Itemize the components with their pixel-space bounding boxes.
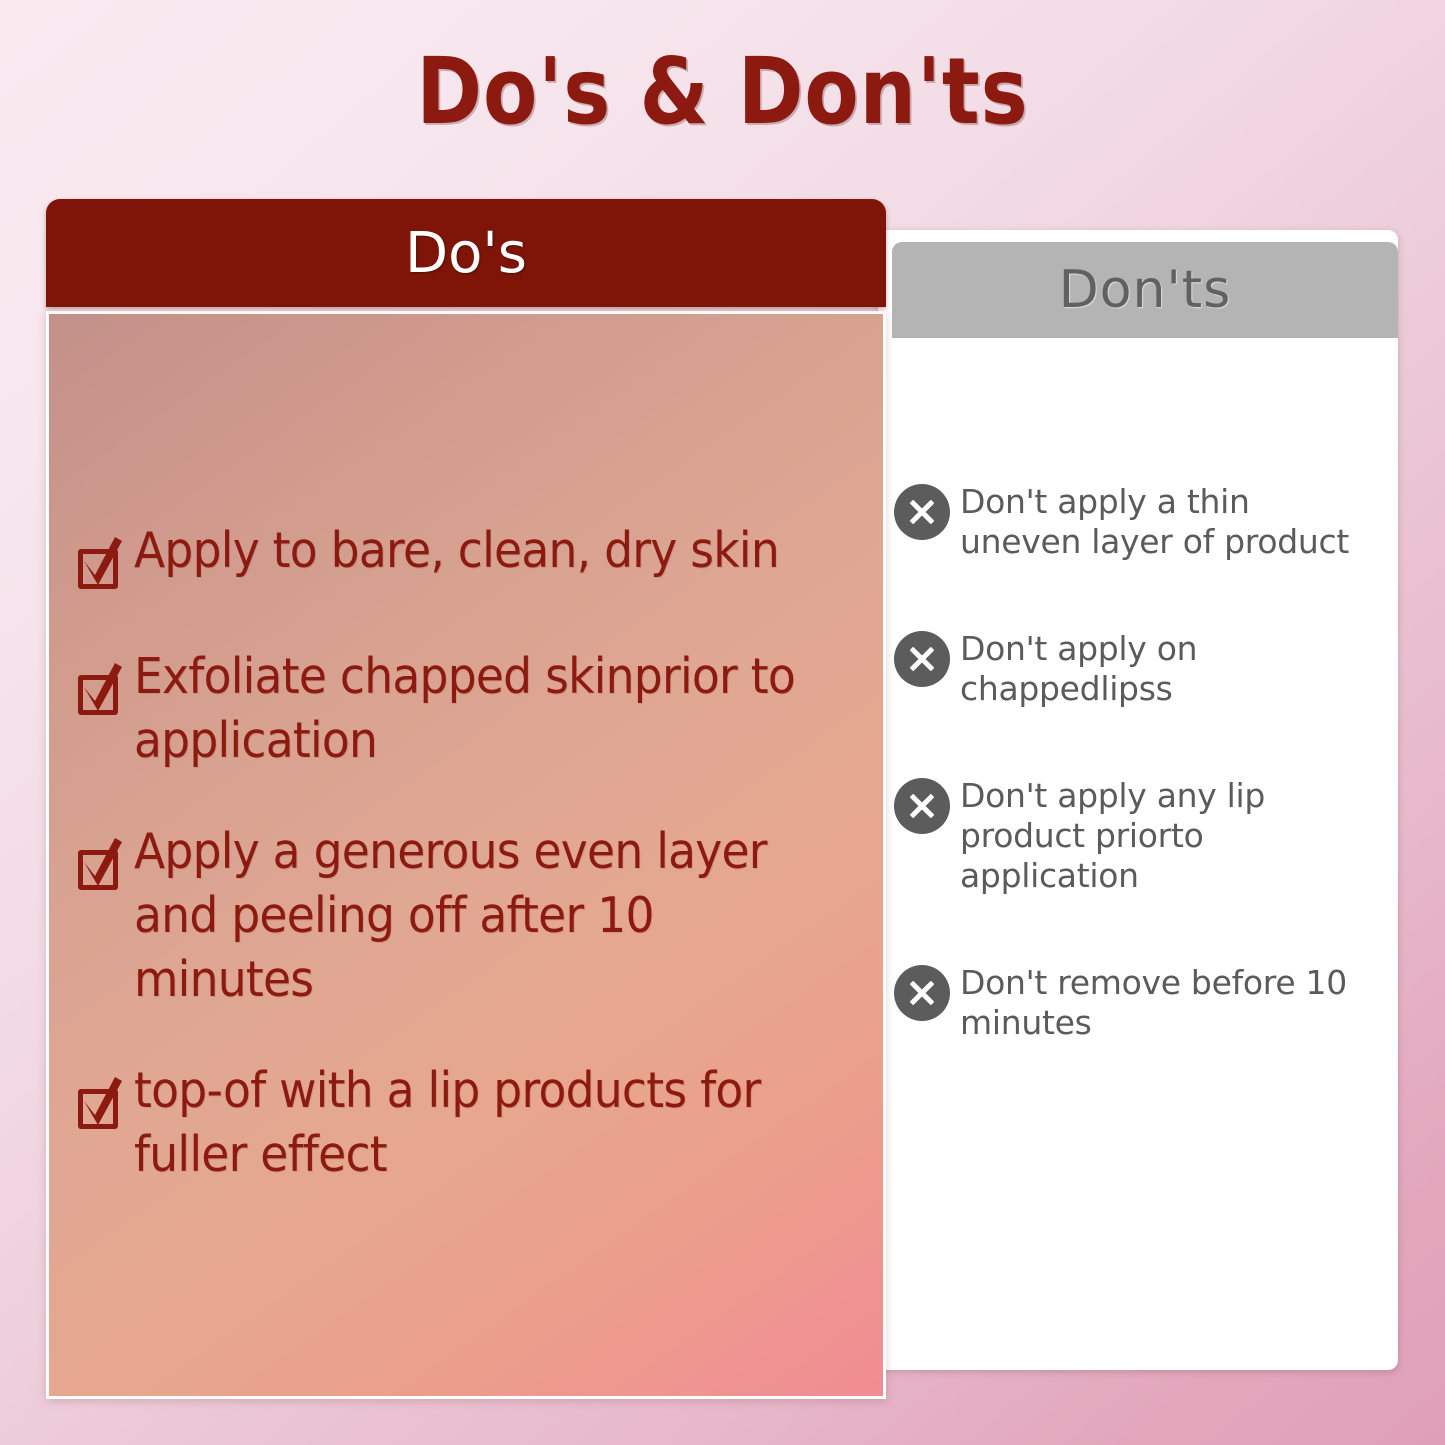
list-item: Don't apply any lip product priorto appl…	[894, 776, 1386, 895]
donts-list: Don't apply a thin uneven layer of produ…	[894, 482, 1386, 1110]
list-item: Apply a generous even layer and peeling …	[72, 820, 872, 1011]
donts-card: Don'ts Don't apply a thin uneven layer o…	[878, 230, 1398, 1370]
do-item-label: top-of with a lip products for fuller ef…	[134, 1059, 820, 1186]
do-item-label: Exfoliate chapped skinprior to applicati…	[134, 645, 820, 772]
list-item: Apply to bare, clean, dry skin	[72, 519, 872, 597]
dos-header-label: Do's	[405, 221, 527, 286]
checkbox-checked-icon	[72, 1075, 130, 1137]
do-item-label: Apply a generous even layer and peeling …	[134, 820, 820, 1011]
list-item: Don't apply a thin uneven layer of produ…	[894, 482, 1386, 561]
list-item: Exfoliate chapped skinprior to applicati…	[72, 645, 872, 772]
donts-header: Don'ts	[892, 242, 1398, 338]
dont-item-label: Don't remove before 10 minutes	[960, 963, 1380, 1042]
circle-x-icon	[894, 778, 950, 834]
page-title: Do's & Don'ts	[101, 38, 1344, 145]
donts-header-label: Don'ts	[1059, 260, 1232, 320]
circle-x-icon	[894, 484, 950, 540]
list-item: Don't remove before 10 minutes	[894, 963, 1386, 1042]
checkbox-checked-icon	[72, 836, 130, 898]
list-item: Don't apply on chappedlipss	[894, 629, 1386, 708]
dos-header: Do's	[46, 199, 886, 307]
dont-item-label: Don't apply any lip product priorto appl…	[960, 776, 1380, 895]
dont-item-label: Don't apply a thin uneven layer of produ…	[960, 482, 1380, 561]
circle-x-icon	[894, 631, 950, 687]
do-item-label: Apply to bare, clean, dry skin	[134, 519, 779, 583]
checkbox-checked-icon	[72, 535, 130, 597]
dos-card: Do's Apply to bare, clean, dry skin Exfo…	[46, 199, 886, 1399]
circle-x-icon	[894, 965, 950, 1021]
list-item: top-of with a lip products for fuller ef…	[72, 1059, 872, 1186]
checkbox-checked-icon	[72, 661, 130, 723]
dos-list: Apply to bare, clean, dry skin Exfoliate…	[72, 519, 872, 1235]
dont-item-label: Don't apply on chappedlipss	[960, 629, 1380, 708]
